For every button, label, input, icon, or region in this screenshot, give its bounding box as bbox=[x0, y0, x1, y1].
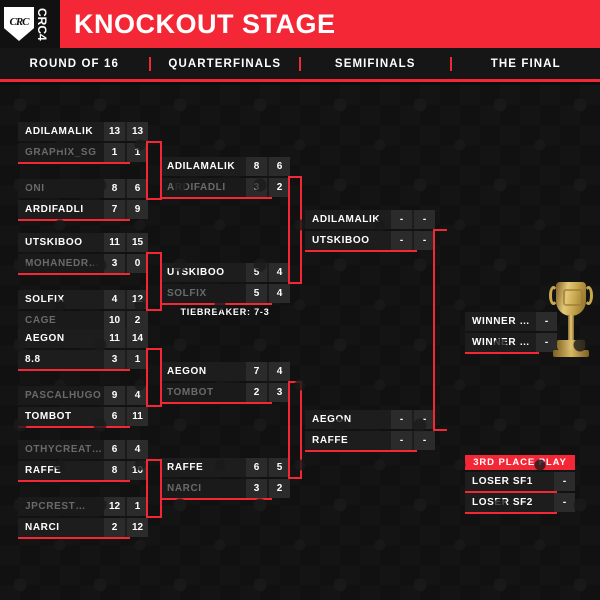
score-cell: 8 bbox=[246, 157, 267, 176]
winner-underline bbox=[465, 512, 557, 514]
match-box[interactable]: ADILAMALIK--UTSKIBOO-- bbox=[305, 210, 435, 252]
winner-underline bbox=[18, 537, 130, 539]
winner-underline bbox=[18, 273, 130, 275]
score-cell: 1 bbox=[127, 350, 148, 369]
team-name: AEGON bbox=[160, 366, 244, 377]
score-cell: - bbox=[554, 493, 575, 512]
score-cell: 9 bbox=[127, 200, 148, 219]
winner-underline bbox=[160, 197, 272, 199]
score-cell: - bbox=[391, 231, 412, 250]
score-cell: 6 bbox=[104, 440, 125, 459]
score-cell: 12 bbox=[127, 290, 148, 309]
score-cell: 2 bbox=[127, 311, 148, 330]
score-cell: 2 bbox=[246, 383, 267, 402]
score-cell: - bbox=[414, 431, 435, 450]
winner-underline bbox=[305, 250, 417, 252]
nav-item-the-final[interactable]: THE FINAL bbox=[452, 58, 600, 70]
match-row[interactable]: UTSKIBOO1115 bbox=[18, 233, 148, 252]
match-row[interactable]: ARDIFADLI79 bbox=[18, 200, 148, 219]
team-name: UTSKIBOO bbox=[160, 267, 244, 278]
match-row[interactable]: UTSKIBOO54 bbox=[160, 263, 290, 282]
team-name: ADILAMALIK bbox=[160, 161, 244, 172]
connector-vertical bbox=[288, 381, 290, 479]
team-name: AEGON bbox=[18, 333, 102, 344]
winner-underline bbox=[18, 369, 130, 371]
match-row[interactable]: TOMBOT23 bbox=[160, 383, 290, 402]
match-row[interactable]: NARCI212 bbox=[18, 518, 148, 537]
match-row[interactable]: RAFFE65 bbox=[160, 458, 290, 477]
match-row[interactable]: LOSER SF1- bbox=[465, 472, 575, 491]
score-cell: 4 bbox=[269, 284, 290, 303]
team-name: TOMBOT bbox=[160, 387, 244, 398]
score-cell: - bbox=[414, 410, 435, 429]
team-name: RAFFE bbox=[160, 462, 244, 473]
match-row[interactable]: LOSER SF2- bbox=[465, 493, 575, 512]
score-cell: 3 bbox=[246, 479, 267, 498]
match-box[interactable]: ADILAMALIK86ARDIFADLI32 bbox=[160, 157, 290, 199]
score-cell: - bbox=[391, 410, 412, 429]
match-row[interactable]: AEGON74 bbox=[160, 362, 290, 381]
third-place-playoff[interactable]: 3RD PLACE PLAY OFFLOSER SF1-LOSER SF2- bbox=[465, 455, 575, 514]
match-row[interactable]: CAGE102 bbox=[18, 311, 148, 330]
match-box[interactable]: SOLFIX412CAGE102 bbox=[18, 290, 148, 332]
team-name: MOHANEDRAMI bbox=[18, 258, 102, 269]
match-box[interactable]: PASCALHUGO94TOMBOT611 bbox=[18, 386, 148, 428]
team-name: SOLFIX bbox=[18, 294, 102, 305]
team-name: JPCREST… bbox=[18, 501, 102, 512]
score-cell: 9 bbox=[104, 386, 125, 405]
match-box[interactable]: UTSKIBOO1115MOHANEDRAMI30 bbox=[18, 233, 148, 275]
title-banner: KNOCKOUT STAGE bbox=[60, 0, 600, 48]
bracket-board: ADILAMALIK1313GRAPHIX_SG11ONI86ARDIFADLI… bbox=[0, 85, 600, 600]
winner-underline bbox=[160, 498, 272, 500]
match-row[interactable]: GRAPHIX_SG11 bbox=[18, 143, 148, 162]
team-name: RAFFE bbox=[18, 465, 102, 476]
match-row[interactable]: ONI86 bbox=[18, 179, 148, 198]
score-cell: 14 bbox=[127, 329, 148, 348]
winner-underline bbox=[18, 219, 130, 221]
match-row[interactable]: AEGON-- bbox=[305, 410, 435, 429]
score-cell: 12 bbox=[127, 518, 148, 537]
connector-vertical bbox=[300, 176, 302, 284]
score-cell: - bbox=[414, 210, 435, 229]
score-cell: 4 bbox=[104, 290, 125, 309]
team-name: AEGON bbox=[305, 414, 389, 425]
connector-horizontal bbox=[433, 429, 447, 431]
team-name: ARDIFADLI bbox=[18, 204, 102, 215]
match-row[interactable]: ADILAMALIK-- bbox=[305, 210, 435, 229]
brand-logo: CRC CRC4 bbox=[0, 0, 60, 48]
score-cell: 8 bbox=[104, 461, 125, 480]
connector-vertical bbox=[160, 348, 162, 407]
score-cell: 11 bbox=[104, 329, 125, 348]
score-cell: 2 bbox=[269, 479, 290, 498]
match-row[interactable]: UTSKIBOO-- bbox=[305, 231, 435, 250]
score-cell: 5 bbox=[246, 284, 267, 303]
match-box[interactable]: JPCREST…121NARCI212 bbox=[18, 497, 148, 539]
trophy-icon bbox=[548, 282, 594, 360]
team-name: NARCI bbox=[18, 522, 102, 533]
match-row[interactable]: WINNER SF2- bbox=[465, 333, 557, 352]
team-name: ADILAMALIK bbox=[18, 126, 102, 137]
connector-horizontal bbox=[433, 229, 447, 231]
score-cell: 8 bbox=[104, 179, 125, 198]
score-cell: 11 bbox=[104, 233, 125, 252]
match-box[interactable]: AEGON--RAFFE-- bbox=[305, 410, 435, 452]
team-name: ADILAMALIK bbox=[305, 214, 389, 225]
match-row[interactable]: OTHYCREATIVE64 bbox=[18, 440, 148, 459]
score-cell: 1 bbox=[127, 497, 148, 516]
match-box[interactable]: AEGON74TOMBOT23 bbox=[160, 362, 290, 404]
score-cell: 4 bbox=[269, 263, 290, 282]
score-cell: 15 bbox=[127, 233, 148, 252]
connector-vertical bbox=[146, 348, 148, 407]
round-nav: ROUND OF 16 QUARTERFINALS SEMIFINALS THE… bbox=[0, 48, 600, 82]
match-row[interactable]: ADILAMALIK86 bbox=[160, 157, 290, 176]
score-cell: 10 bbox=[127, 461, 148, 480]
match-row[interactable]: PASCALHUGO94 bbox=[18, 386, 148, 405]
winner-underline bbox=[18, 480, 130, 482]
tiebreaker-note: TIEBREAKER: 7-3 bbox=[160, 307, 290, 317]
team-name: PASCALHUGO bbox=[18, 390, 102, 401]
winner-underline bbox=[18, 426, 130, 428]
connector-vertical bbox=[160, 252, 162, 311]
team-name: 8.8 bbox=[18, 354, 102, 365]
connector-vertical bbox=[433, 229, 435, 431]
score-cell: 6 bbox=[269, 157, 290, 176]
team-name: UTSKIBOO bbox=[305, 235, 389, 246]
match-box[interactable]: RAFFE65NARCI32 bbox=[160, 458, 290, 500]
team-name: LOSER SF2 bbox=[465, 497, 552, 508]
match-row[interactable]: AEGON1114 bbox=[18, 329, 148, 348]
nav-item-quarterfinals[interactable]: QUARTERFINALS bbox=[151, 58, 300, 70]
match-box[interactable]: UTSKIBOO54SOLFIX54TIEBREAKER: 7-3 bbox=[160, 263, 290, 317]
score-cell: - bbox=[391, 431, 412, 450]
connector-vertical bbox=[160, 459, 162, 518]
score-cell: 3 bbox=[246, 178, 267, 197]
score-cell: 2 bbox=[104, 518, 125, 537]
match-row[interactable]: SOLFIX54 bbox=[160, 284, 290, 303]
team-name: OTHYCREATIVE bbox=[18, 444, 102, 455]
score-cell: 12 bbox=[104, 497, 125, 516]
team-name: ONI bbox=[18, 183, 102, 194]
match-row[interactable]: MOHANEDRAMI30 bbox=[18, 254, 148, 273]
match-row[interactable]: NARCI32 bbox=[160, 479, 290, 498]
trophy-cup bbox=[556, 282, 586, 316]
match-row[interactable]: JPCREST…121 bbox=[18, 497, 148, 516]
match-row[interactable]: WINNER SF1- bbox=[465, 312, 557, 331]
team-name: LOSER SF1 bbox=[465, 476, 552, 487]
score-cell: - bbox=[414, 231, 435, 250]
match-row[interactable]: SOLFIX412 bbox=[18, 290, 148, 309]
match-row[interactable]: ARDIFADLI32 bbox=[160, 178, 290, 197]
team-name: CAGE bbox=[18, 315, 102, 326]
score-cell: 4 bbox=[127, 440, 148, 459]
score-cell: - bbox=[554, 472, 575, 491]
winner-underline bbox=[18, 162, 130, 164]
score-cell: - bbox=[391, 210, 412, 229]
score-cell: 5 bbox=[269, 458, 290, 477]
team-name: NARCI bbox=[160, 483, 244, 494]
connector-vertical bbox=[146, 141, 148, 200]
page-title: KNOCKOUT STAGE bbox=[74, 9, 336, 40]
score-cell: 0 bbox=[127, 254, 148, 273]
match-box[interactable]: ADILAMALIK1313GRAPHIX_SG11 bbox=[18, 122, 148, 164]
match-box[interactable]: WINNER SF1-WINNER SF2- bbox=[465, 312, 557, 354]
score-cell: 7 bbox=[246, 362, 267, 381]
trophy-stem bbox=[568, 315, 574, 341]
score-cell: 7 bbox=[104, 200, 125, 219]
crest-shield-icon: CRC bbox=[4, 7, 34, 41]
trophy-base-plinth bbox=[553, 350, 589, 357]
score-cell: 6 bbox=[246, 458, 267, 477]
score-cell: 6 bbox=[127, 179, 148, 198]
winner-underline bbox=[160, 402, 272, 404]
winner-underline bbox=[465, 352, 539, 354]
connector-vertical bbox=[160, 141, 162, 200]
score-cell: 6 bbox=[104, 407, 125, 426]
score-cell: 4 bbox=[127, 386, 148, 405]
match-box[interactable]: AEGON11148.831 bbox=[18, 329, 148, 371]
match-row[interactable]: TOMBOT611 bbox=[18, 407, 148, 426]
winner-underline bbox=[305, 450, 417, 452]
team-name: WINNER SF1 bbox=[465, 316, 534, 327]
nav-item-semifinals[interactable]: SEMIFINALS bbox=[301, 58, 450, 70]
score-cell: 1 bbox=[104, 143, 125, 162]
brand-name: CRC4 bbox=[36, 8, 48, 41]
score-cell: 3 bbox=[104, 254, 125, 273]
winner-underline bbox=[160, 303, 272, 305]
connector-vertical bbox=[300, 381, 302, 479]
connector-vertical bbox=[288, 176, 290, 284]
page-header: CRC CRC4 KNOCKOUT STAGE bbox=[0, 0, 600, 48]
shield-monogram: CRC bbox=[9, 16, 28, 28]
score-cell: 1 bbox=[127, 143, 148, 162]
score-cell: 4 bbox=[269, 362, 290, 381]
score-cell: 11 bbox=[127, 407, 148, 426]
nav-item-round-of-16[interactable]: ROUND OF 16 bbox=[0, 58, 149, 70]
connector-vertical bbox=[146, 252, 148, 311]
score-cell: 3 bbox=[104, 350, 125, 369]
match-row[interactable]: RAFFE-- bbox=[305, 431, 435, 450]
score-cell: 13 bbox=[127, 122, 148, 141]
team-name: UTSKIBOO bbox=[18, 237, 102, 248]
team-name: WINNER SF2 bbox=[465, 337, 534, 348]
match-row[interactable]: ADILAMALIK1313 bbox=[18, 122, 148, 141]
match-row[interactable]: RAFFE810 bbox=[18, 461, 148, 480]
connector-vertical bbox=[146, 459, 148, 518]
team-name: ARDIFADLI bbox=[160, 182, 244, 193]
match-box[interactable]: OTHYCREATIVE64RAFFE810 bbox=[18, 440, 148, 482]
score-cell: 13 bbox=[104, 122, 125, 141]
team-name: RAFFE bbox=[305, 435, 389, 446]
team-name: GRAPHIX_SG bbox=[18, 147, 102, 158]
team-name: SOLFIX bbox=[160, 288, 244, 299]
score-cell: 10 bbox=[104, 311, 125, 330]
score-cell: 2 bbox=[269, 178, 290, 197]
third-place-heading: 3RD PLACE PLAY OFF bbox=[465, 455, 575, 470]
score-cell: 5 bbox=[246, 263, 267, 282]
match-row[interactable]: 8.831 bbox=[18, 350, 148, 369]
match-box[interactable]: ONI86ARDIFADLI79 bbox=[18, 179, 148, 221]
score-cell: 3 bbox=[269, 383, 290, 402]
team-name: TOMBOT bbox=[18, 411, 102, 422]
